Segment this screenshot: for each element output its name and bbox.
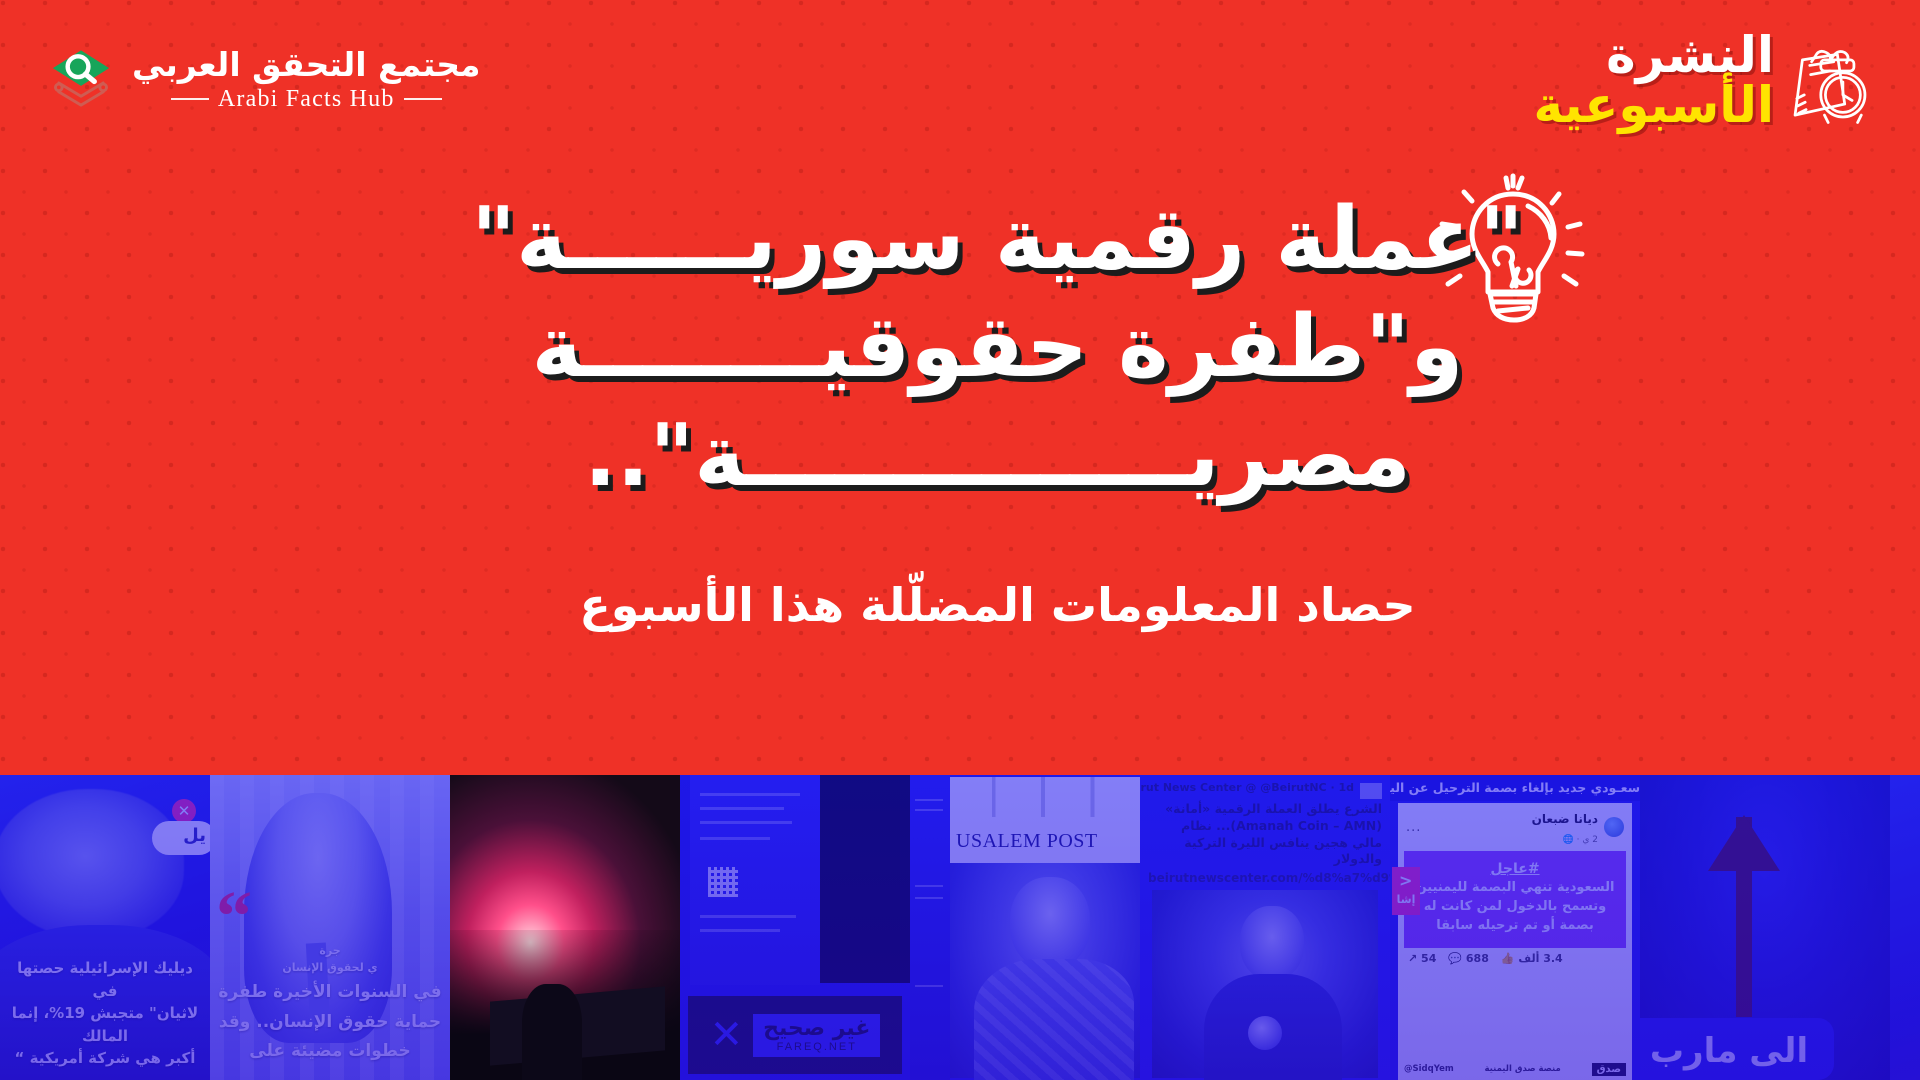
thumb-caption: ديليك الإسرائيلية حصتها في لاثيان" متجبش… (0, 957, 210, 1070)
thumb-facebook-saudi-post[interactable]: سعـودي جديد بإلغاء بصمة الترحيل عن اليمن… (1390, 775, 1640, 1080)
comment-count: 688 💬 (1448, 952, 1489, 965)
officer-uniform (974, 959, 1134, 1080)
alarm-clock-newspaper-icon (1784, 34, 1876, 130)
header-bar: مجتمع التحقق العربي Arabi Facts Hub (0, 0, 1920, 160)
side-line (915, 809, 943, 811)
headline-block: "عملة رقمية سوريــــــة" و"طفرة حقوقيـــ… (0, 185, 1920, 510)
tweet-header: Beirut News Center @ @BeirutNC · 1d (1148, 781, 1382, 799)
post-author: ديانا ضبعان 2 ي · 🌐 (1532, 808, 1624, 846)
tweet-card: Beirut News Center @ @BeirutNC · 1d الشر… (1140, 775, 1390, 885)
thumb-caption: ة حصتها ف %، إنما الد ريكية “ (1890, 957, 1920, 1025)
caption-line-0: جرة (214, 943, 446, 960)
qr-code-icon (708, 867, 738, 897)
author-name: ديانا ضبعان (1532, 812, 1598, 826)
post-author-row: ديانا ضبعان 2 ي · 🌐 ... (1398, 803, 1632, 849)
share-label: إشا (1397, 893, 1416, 906)
headline-line-1: "عملة رقمية سوريــــــة" (330, 185, 1665, 293)
caption-line-2: لاثيان" متجبش 19%، إنما المالك (12, 1004, 198, 1045)
thumb-egypt-fm-quote[interactable]: “ جرة ي لحقوق الإنسان في السنوات الأخيرة… (210, 775, 450, 1080)
like-count: 3.4 ألف 👍 (1501, 952, 1563, 965)
officer-head (1010, 877, 1090, 969)
subtitle-block: حصاد المعلومات المضلّلة هذا الأسبوع (0, 578, 1920, 632)
post-body-text: السعودية تنهي البصمة لليمنيين وتسمح بالد… (1410, 879, 1620, 936)
caption-line-1: ديليك الإسرائيلية حصتها في (17, 959, 193, 1000)
doc-line (700, 821, 792, 824)
brand-text: مجتمع التحقق العربي Arabi Facts Hub (132, 47, 480, 113)
side-line (915, 799, 943, 801)
brand-rule-right (404, 98, 442, 100)
post-footer: صدق منصة صدق اليمنية @SidqYem (1398, 1058, 1632, 1080)
masthead-card: USALEM POST (950, 777, 1140, 863)
coin-icon (1248, 1016, 1282, 1050)
blue-overlay (1890, 775, 1920, 1080)
speech-bubble: يل (152, 821, 210, 855)
caption-line-4: خطوات مضيئة على (214, 1039, 446, 1065)
footer-logo: صدق (1592, 1063, 1626, 1076)
side-line (915, 897, 943, 899)
stamp-box: غير صحيح FAREQ.NET (753, 1014, 880, 1057)
tweet-text: الشرع يطلق العملة الرقمية «أمانة» (Amana… (1148, 801, 1382, 868)
stamp-verdict: غير صحيح (763, 1016, 870, 1041)
brand-logo[interactable]: مجتمع التحقق العربي Arabi Facts Hub (44, 43, 480, 117)
tweet-account: Beirut News Center @ @BeirutNC · 1d (1140, 781, 1354, 794)
thumbnail-strip: ✕ يل ديليك الإسرائيلية حصتها في لاثيان" … (0, 775, 1920, 1080)
up-arrow-icon (1736, 817, 1752, 1017)
coin-photo (1152, 890, 1378, 1078)
sidebar-art (910, 775, 950, 1080)
thumb-tv-host-repeat[interactable]: ة حصتها ف %، إنما الد ريكية “ (1890, 775, 1920, 1080)
quote-mark-icon: “ (216, 895, 252, 938)
post-body-card: #عاجل السعودية تنهي البصمة لليمنيين وتسم… (1404, 851, 1626, 948)
post-header-banner: سعـودي جديد بإلغاء بصمة الترحيل عن اليمن… (1390, 775, 1640, 801)
scene-figure (522, 984, 582, 1080)
bulletin-badge: النشرة الأسبوعية (1533, 30, 1876, 130)
thumb-caption: جرة ي لحقوق الإنسان في السنوات الأخيرة ط… (210, 943, 450, 1065)
brand-name-english-row: Arabi Facts Hub (171, 86, 442, 113)
headline-line-3: مصريـــــــــــــــة".. (330, 402, 1665, 510)
person-face (0, 789, 184, 939)
tweet-link[interactable]: beirutnewscenter.com/%d8%a7%d9%84%d... (1148, 871, 1382, 885)
post-hashtag[interactable]: #عاجل (1410, 861, 1620, 877)
person-head (1240, 906, 1304, 980)
avatar (1604, 817, 1624, 837)
share-icon: < (1399, 871, 1412, 890)
thumb-fire-smoke-scene[interactable] (450, 775, 680, 1080)
caption-line-3: حماية حقوق الإنسان.. وقد (214, 1010, 446, 1036)
poster-canvas: مجتمع التحقق العربي Arabi Facts Hub (0, 0, 1920, 1080)
caption-line-1: ي لحقوق الإنسان (214, 960, 446, 977)
doc-line (700, 807, 784, 810)
leaflet-document (690, 775, 820, 985)
bulletin-line1: النشرة (1606, 31, 1774, 79)
more-options-icon[interactable]: ... (1406, 820, 1421, 835)
false-claim-icon: ✕ (172, 799, 196, 823)
masthead-title: USALEM POST (956, 830, 1098, 853)
side-line (915, 985, 943, 987)
thumb-fareq-fact-check[interactable]: ✕ غير صحيح FAREQ.NET (680, 775, 910, 1080)
masthead-bars (950, 777, 1140, 817)
brand-rule-left (171, 98, 209, 100)
facebook-post-card: ديانا ضبعان 2 ي · 🌐 ... #عاجل السعودية ت… (1398, 803, 1632, 1058)
speech-bubble-text: يل (183, 825, 206, 846)
brand-name-arabic: مجتمع التحقق العربي (132, 47, 480, 84)
bulletin-words: النشرة الأسبوعية (1533, 31, 1774, 129)
cross-icon: ✕ (710, 1015, 744, 1055)
doc-line (700, 929, 780, 932)
caption-line-3: أكبر هي شركة أمريكية “ (15, 1049, 196, 1067)
post-engagement: 3.4 ألف 👍 688 💬 54 ↗ (1398, 948, 1632, 967)
side-line (915, 885, 943, 887)
footer-handle: @SidqYem (1404, 1064, 1454, 1074)
share-count: 54 ↗ (1408, 952, 1436, 965)
avatar (1360, 783, 1382, 799)
road-sign-text: الى مارب (1640, 1018, 1834, 1080)
thumb-jerusalem-post-officer[interactable]: USALEM POST (910, 775, 1140, 1080)
doc-line (700, 915, 796, 918)
thumb-beirut-news-tweet[interactable]: Beirut News Center @ @BeirutNC · 1d الشر… (1140, 775, 1390, 1080)
thumb-marib-road-sign[interactable]: الى مارب (1640, 775, 1890, 1080)
stamp-domain: FAREQ.NET (763, 1041, 870, 1053)
caption-line-2: في السنوات الأخيرة طفرة (214, 980, 446, 1006)
brand-name-english: Arabi Facts Hub (218, 86, 395, 113)
headline-line-2: و"طفرة حقوقيــــــــة (330, 293, 1665, 401)
footer-org-name: منصة صدق اليمنية (1485, 1064, 1561, 1074)
share-button[interactable]: < إشا (1392, 867, 1420, 915)
dark-panel (820, 775, 910, 983)
doc-line (700, 793, 800, 796)
doc-line (700, 837, 770, 840)
post-time: 2 ي · 🌐 (1563, 835, 1598, 845)
layers-search-icon (44, 43, 118, 117)
officer-photo (950, 863, 1140, 1078)
fact-check-stamp: ✕ غير صحيح FAREQ.NET (688, 996, 902, 1074)
author-meta: ديانا ضبعان 2 ي · 🌐 (1532, 808, 1598, 846)
bulletin-line2: الأسبوعية (1533, 81, 1774, 129)
subtitle-text: حصاد المعلومات المضلّلة هذا الأسبوع (579, 578, 1415, 632)
thumb-tv-host-israeli-deal[interactable]: ✕ يل ديليك الإسرائيلية حصتها في لاثيان" … (0, 775, 210, 1080)
